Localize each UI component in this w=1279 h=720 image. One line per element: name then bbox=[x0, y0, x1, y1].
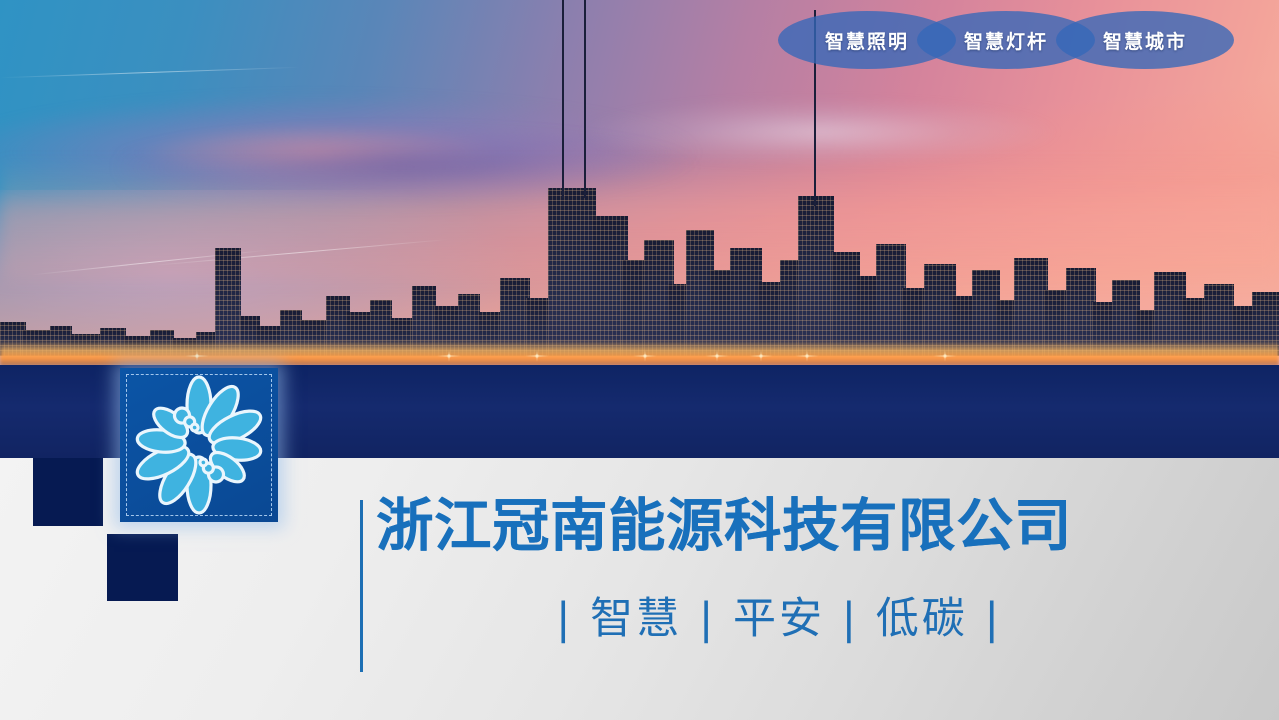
navy-accent-square-lower bbox=[107, 534, 178, 601]
tagline: | 智慧 | 平安 | 低碳 | bbox=[556, 596, 1002, 643]
vertical-accent-line bbox=[360, 500, 363, 672]
badge-group: 智慧照明 智慧灯杆 智慧城市 bbox=[778, 11, 1234, 71]
badge-smart-city[interactable]: 智慧城市 bbox=[1056, 11, 1234, 69]
flower-logo-icon bbox=[120, 368, 278, 522]
company-logo[interactable] bbox=[120, 368, 278, 522]
title-slide: 智慧照明 智慧灯杆 智慧城市 浙江冠南能源科技有限公司 | 智慧 | 平安 | … bbox=[0, 0, 1279, 720]
city-skyline bbox=[0, 156, 1279, 366]
navy-accent-square-left bbox=[33, 458, 103, 526]
company-name: 浙江冠南能源科技有限公司 bbox=[376, 497, 1072, 557]
